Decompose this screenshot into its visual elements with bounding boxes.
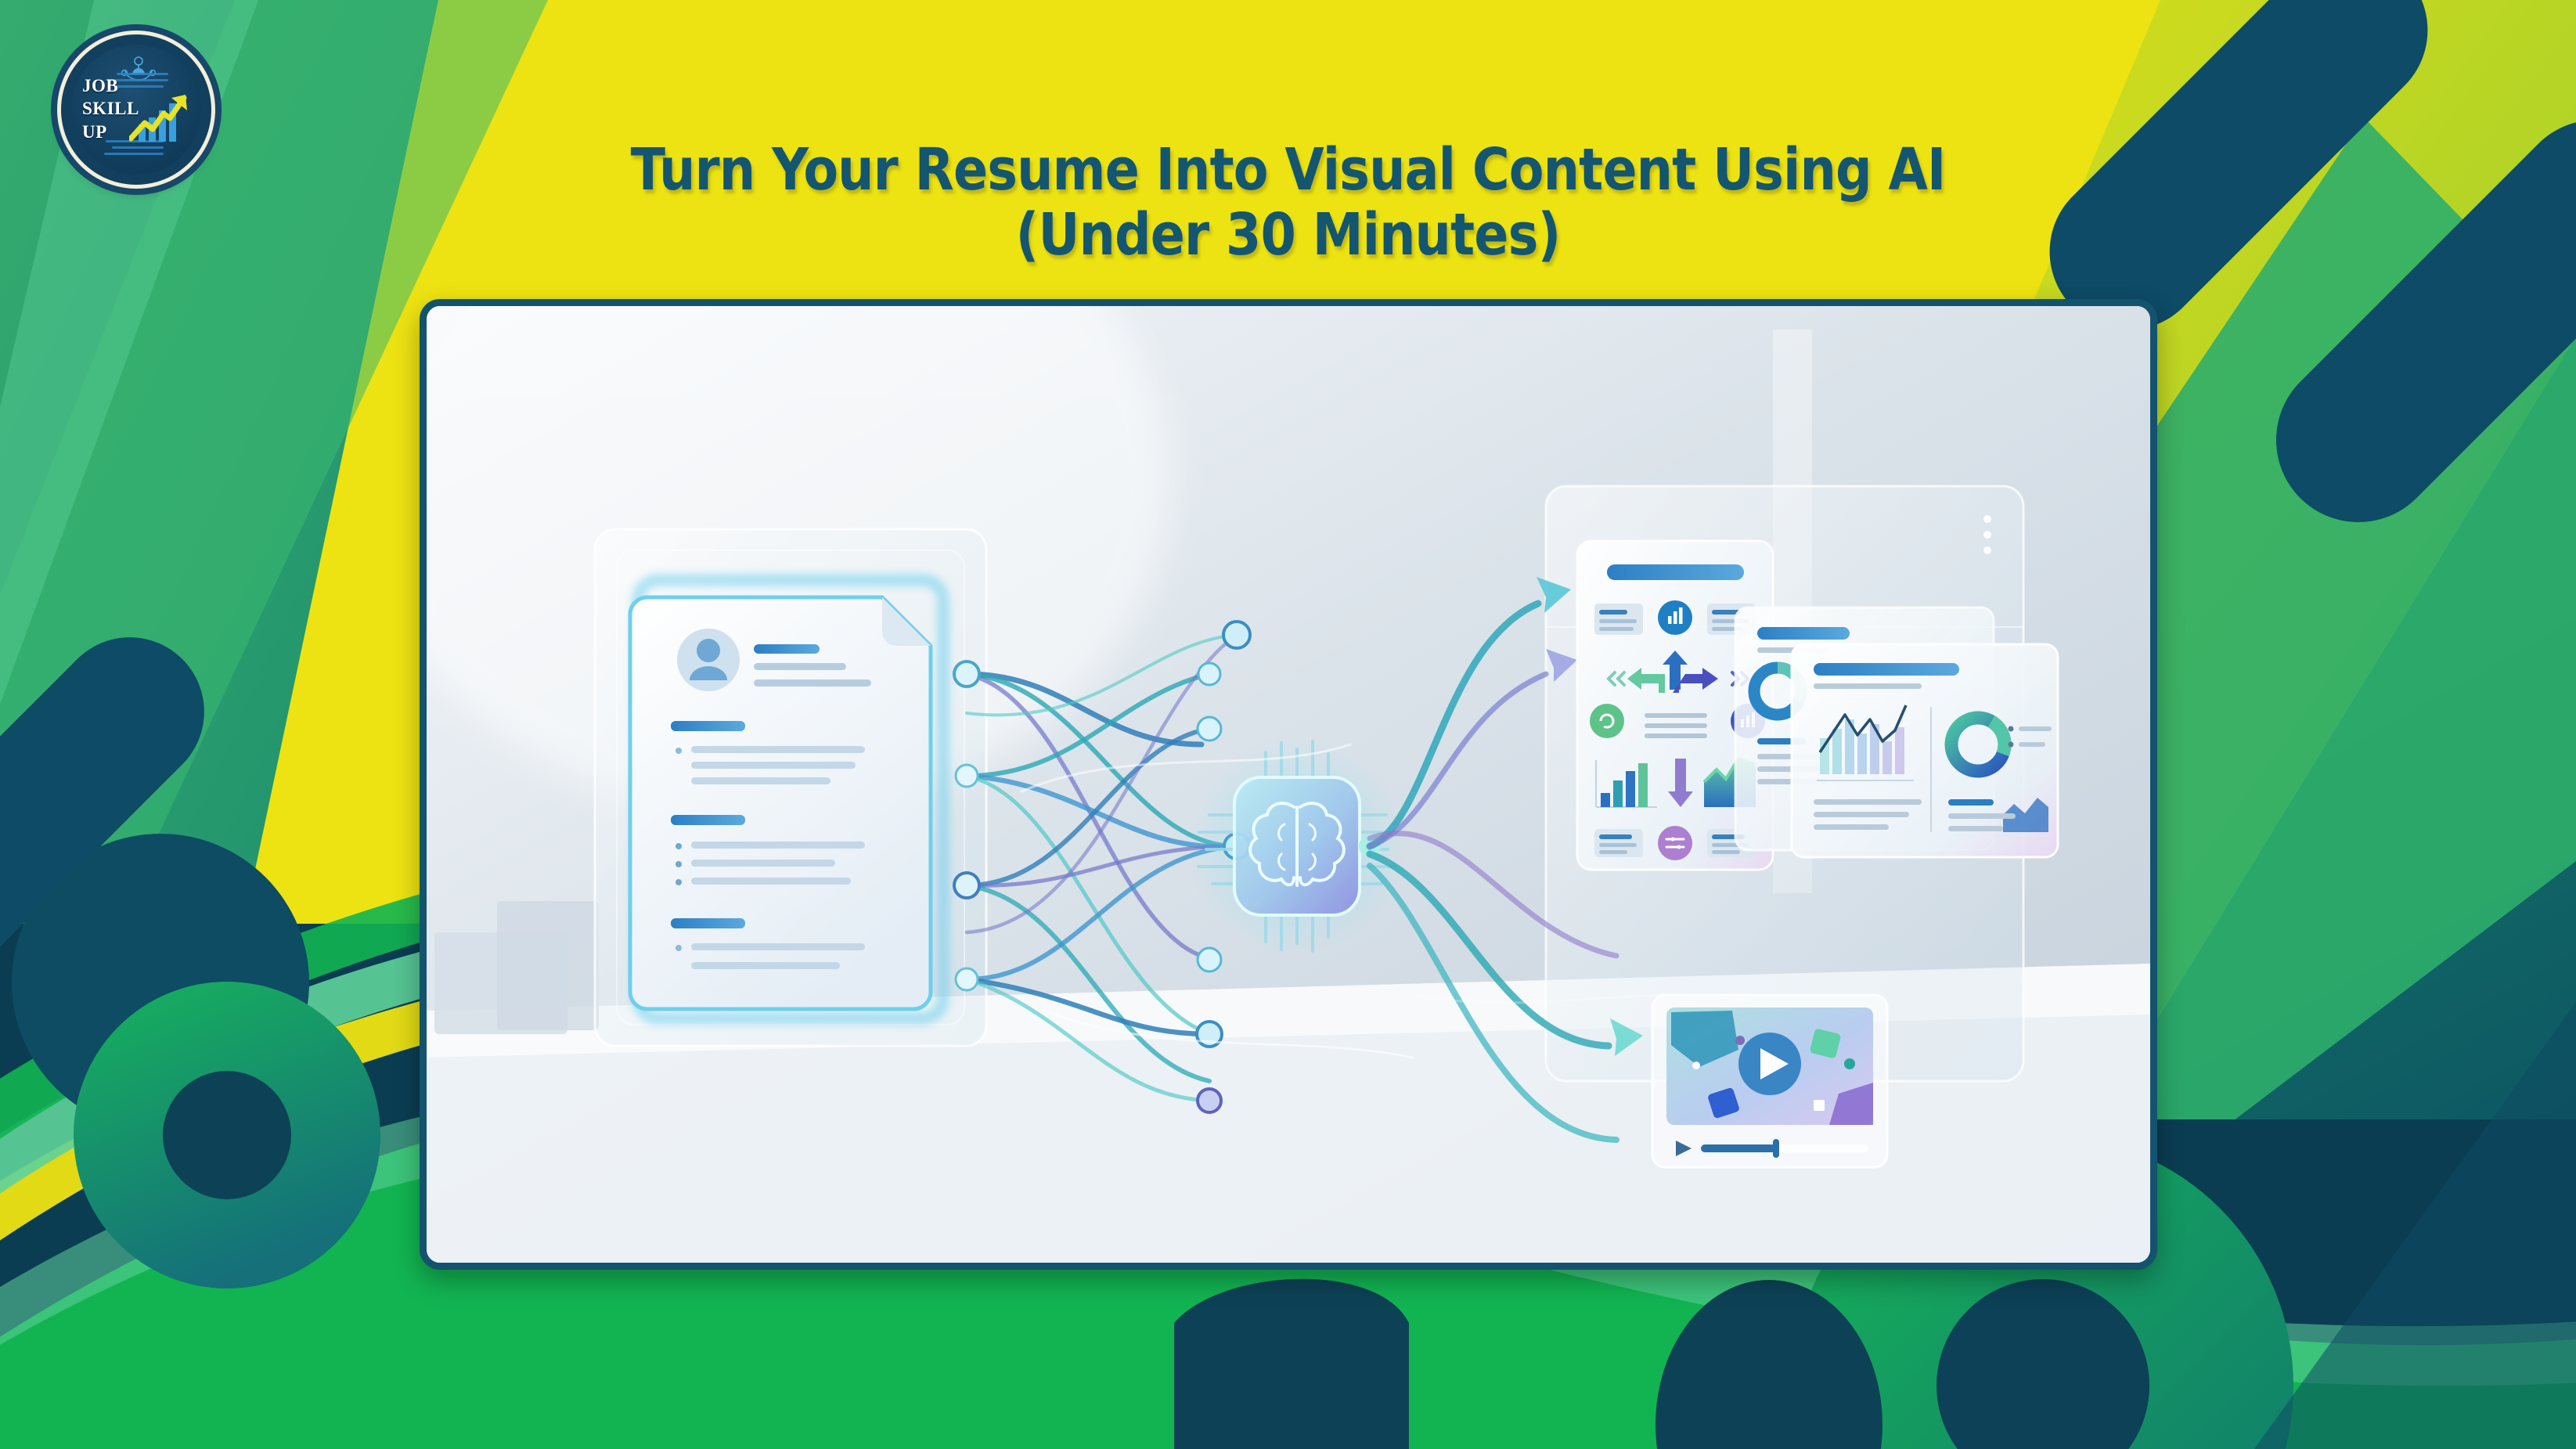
three-dot-menu-icon [1983,515,1991,554]
logo-inner-disc: JOB SKILL UP [71,45,201,175]
ai-workflow-illustration [427,306,2150,1263]
dot-purple [1735,1036,1745,1045]
dot-teal [1844,1058,1855,1069]
dashboard-card-front [1792,644,2058,857]
white-square [1814,1100,1825,1111]
hero-image-panel [420,299,2157,1270]
refresh-circle-icon [1590,704,1624,738]
settings-circle-icon [1658,826,1692,860]
resume-document [630,580,943,1018]
dot-white [1692,1062,1700,1069]
video-card [1652,995,1887,1167]
ring-bottom-left [74,982,380,1289]
growth-bar-chart-arrow-icon [129,93,190,142]
brand-logo[interactable]: JOB SKILL UP [61,34,211,185]
